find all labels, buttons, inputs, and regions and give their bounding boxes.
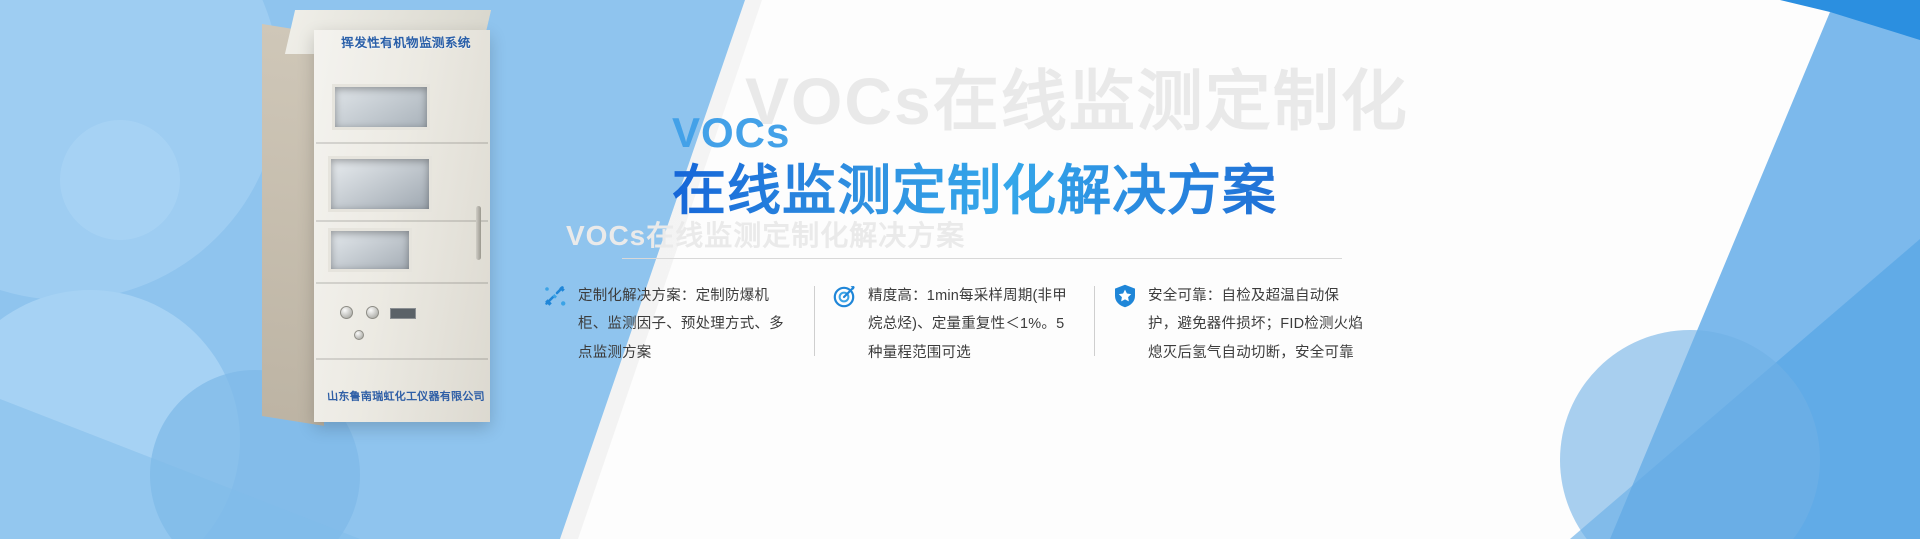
custom-tools-icon: [542, 283, 568, 309]
headline-chinese: 在线监测定制化解决方案: [672, 162, 1277, 220]
feature-list: 定制化解决方案：定制防爆机柜、监测因子、预处理方式、多点监测方案 精度高：1mi…: [524, 282, 1744, 367]
cabinet-title-label: 挥发性有机物监测系统: [321, 32, 490, 51]
headline-english: VOCs: [672, 112, 1277, 154]
cabinet-door-handle: [476, 206, 481, 260]
product-image: 挥发性有机物监测系统 山东鲁南瑞虹化工仪器有限公司: [262, 6, 492, 426]
cabinet-window: [332, 84, 430, 130]
cabinet-seam: [316, 358, 488, 360]
decorative-circle: [60, 120, 180, 240]
feature-item: 安全可靠：自检及超温自动保护，避免器件损坏；FID检测火焰熄灭后氢气自动切断，安…: [1094, 282, 1384, 367]
feature-text: 安全可靠：自检及超温自动保护，避免器件损坏；FID检测火焰熄灭后氢气自动切断，安…: [1148, 282, 1366, 367]
horizontal-divider: [622, 258, 1342, 259]
cabinet-seam: [316, 220, 488, 222]
cabinet-knob: [366, 306, 379, 319]
cabinet-display-screen: [328, 156, 432, 212]
cabinet-seam: [316, 142, 488, 144]
shield-star-icon: [1112, 283, 1138, 309]
cabinet-seam: [316, 282, 488, 284]
feature-item: 定制化解决方案：定制防爆机柜、监测因子、预处理方式、多点监测方案: [524, 282, 814, 367]
headline-block: VOCs 在线监测定制化解决方案: [672, 112, 1277, 220]
cabinet-knob: [340, 306, 353, 319]
target-accuracy-icon: [832, 283, 858, 309]
feature-text: 定制化解决方案：定制防爆机柜、监测因子、预处理方式、多点监测方案: [578, 282, 796, 367]
cabinet-display-screen: [328, 228, 412, 272]
cabinet-readout: [390, 308, 416, 319]
feature-text: 精度高：1min每采样周期(非甲烷总烃)、定量重复性＜1%。5种量程范围可选: [868, 282, 1076, 367]
feature-item: 精度高：1min每采样周期(非甲烷总烃)、定量重复性＜1%。5种量程范围可选: [814, 282, 1094, 367]
cabinet-company-label: 山东鲁南瑞虹化工仪器有限公司: [318, 388, 495, 404]
cabinet-knob: [354, 330, 364, 340]
